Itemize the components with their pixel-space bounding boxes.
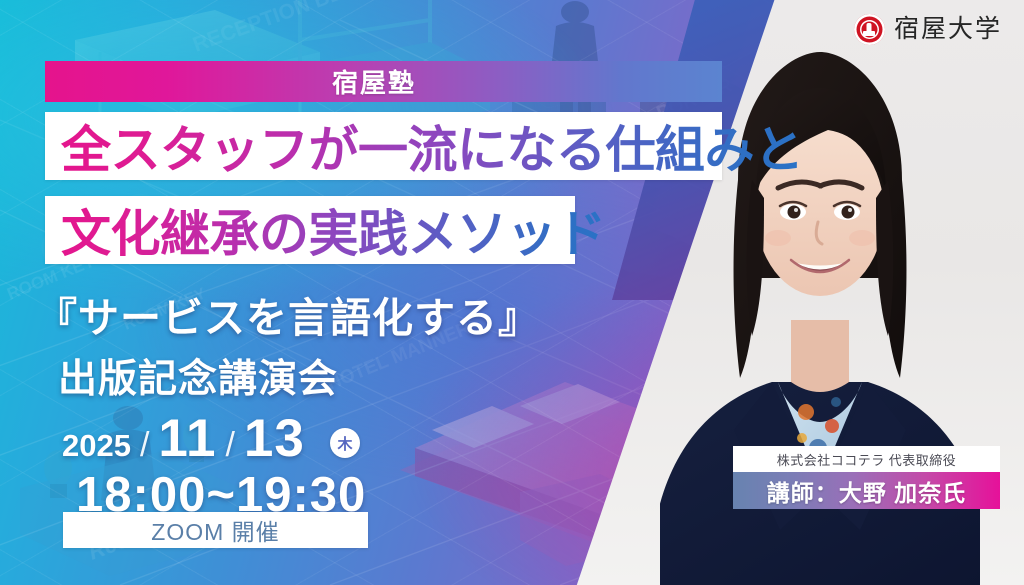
speaker-company-band: 株式会社ココテラ 代表取締役 bbox=[733, 446, 1000, 472]
title-line-1: 全スタッフが一流になる仕組みと bbox=[45, 112, 722, 180]
subtitle-line-2: 出版記念講演会 bbox=[58, 348, 338, 404]
event-day: 13 bbox=[244, 408, 305, 469]
event-date: 2025 / 11 / 13 bbox=[62, 408, 305, 469]
title-line-2: 文化継承の実践メソッド bbox=[45, 196, 575, 264]
speaker-name-text: 講師：大野 加奈氏 bbox=[767, 474, 966, 508]
title-line-2-text: 文化継承の実践メソッド bbox=[45, 194, 606, 266]
title-line-1-text: 全スタッフが一流になる仕組みと bbox=[45, 110, 804, 182]
venue-label: ZOOM 開催 bbox=[151, 513, 279, 547]
speaker-company-text: 株式会社ココテラ 代表取締役 bbox=[777, 450, 957, 469]
brand-logo: 宿屋大学 bbox=[850, 6, 1010, 52]
date-separator-1: / bbox=[140, 426, 149, 465]
event-poster: 321 bbox=[0, 0, 1024, 585]
venue-box: ZOOM 開催 bbox=[63, 512, 368, 548]
kicker-label: 宿屋塾 bbox=[332, 63, 416, 100]
day-of-week-badge: 木 bbox=[330, 428, 360, 458]
event-year: 2025 bbox=[62, 428, 131, 464]
speaker-name-band: 講師：大野 加奈氏 bbox=[733, 472, 1000, 509]
hotel-bell-circle-icon bbox=[854, 14, 885, 45]
kicker-band: 宿屋塾 bbox=[45, 61, 722, 102]
date-separator-2: / bbox=[225, 426, 234, 465]
event-month: 11 bbox=[158, 408, 216, 469]
brand-logo-text: 宿屋大学 bbox=[894, 17, 1002, 42]
subtitle-line-1: 『サービスを言語化する』 bbox=[36, 284, 540, 344]
